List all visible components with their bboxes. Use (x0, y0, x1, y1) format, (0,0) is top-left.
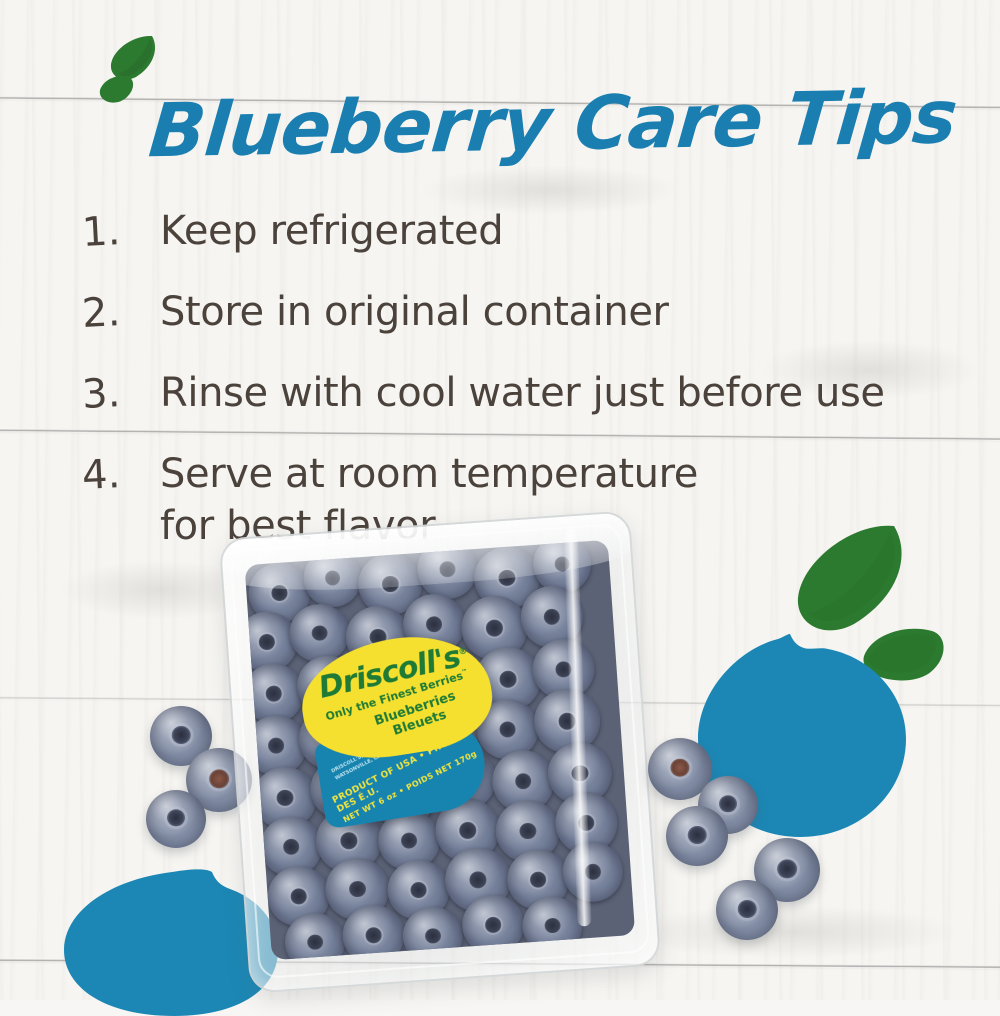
registered-mark-icon: ® (458, 646, 468, 658)
list-item: 3. Rinse with cool water just before use (82, 367, 962, 419)
trademark-mark-icon: ™ (461, 668, 469, 676)
list-item-number: 2. (81, 284, 162, 340)
product-label: DRISCOLL'S, INC. WATSONVILLE, CA 95077 P… (293, 625, 509, 831)
list-item-label: Rinse with cool water just before use (160, 367, 885, 419)
list-item-label: Store in original container (160, 286, 669, 338)
loose-blueberry (666, 806, 728, 866)
loose-blueberry (146, 790, 206, 848)
list-item-number: 1. (81, 203, 162, 259)
page-title: Blueberry Care Tips (146, 82, 874, 169)
blueberry-clamshell-container: DRISCOLL'S, INC. WATSONVILLE, CA 95077 P… (219, 510, 662, 994)
list-item-number: 4. (81, 446, 162, 502)
list-item: 1. Keep refrigerated (82, 205, 962, 257)
list-item-label: Keep refrigerated (160, 205, 503, 257)
list-item-number: 3. (81, 365, 162, 421)
loose-blueberry (716, 880, 778, 940)
list-item: 2. Store in original container (82, 286, 962, 338)
leaf-icon (96, 72, 136, 106)
